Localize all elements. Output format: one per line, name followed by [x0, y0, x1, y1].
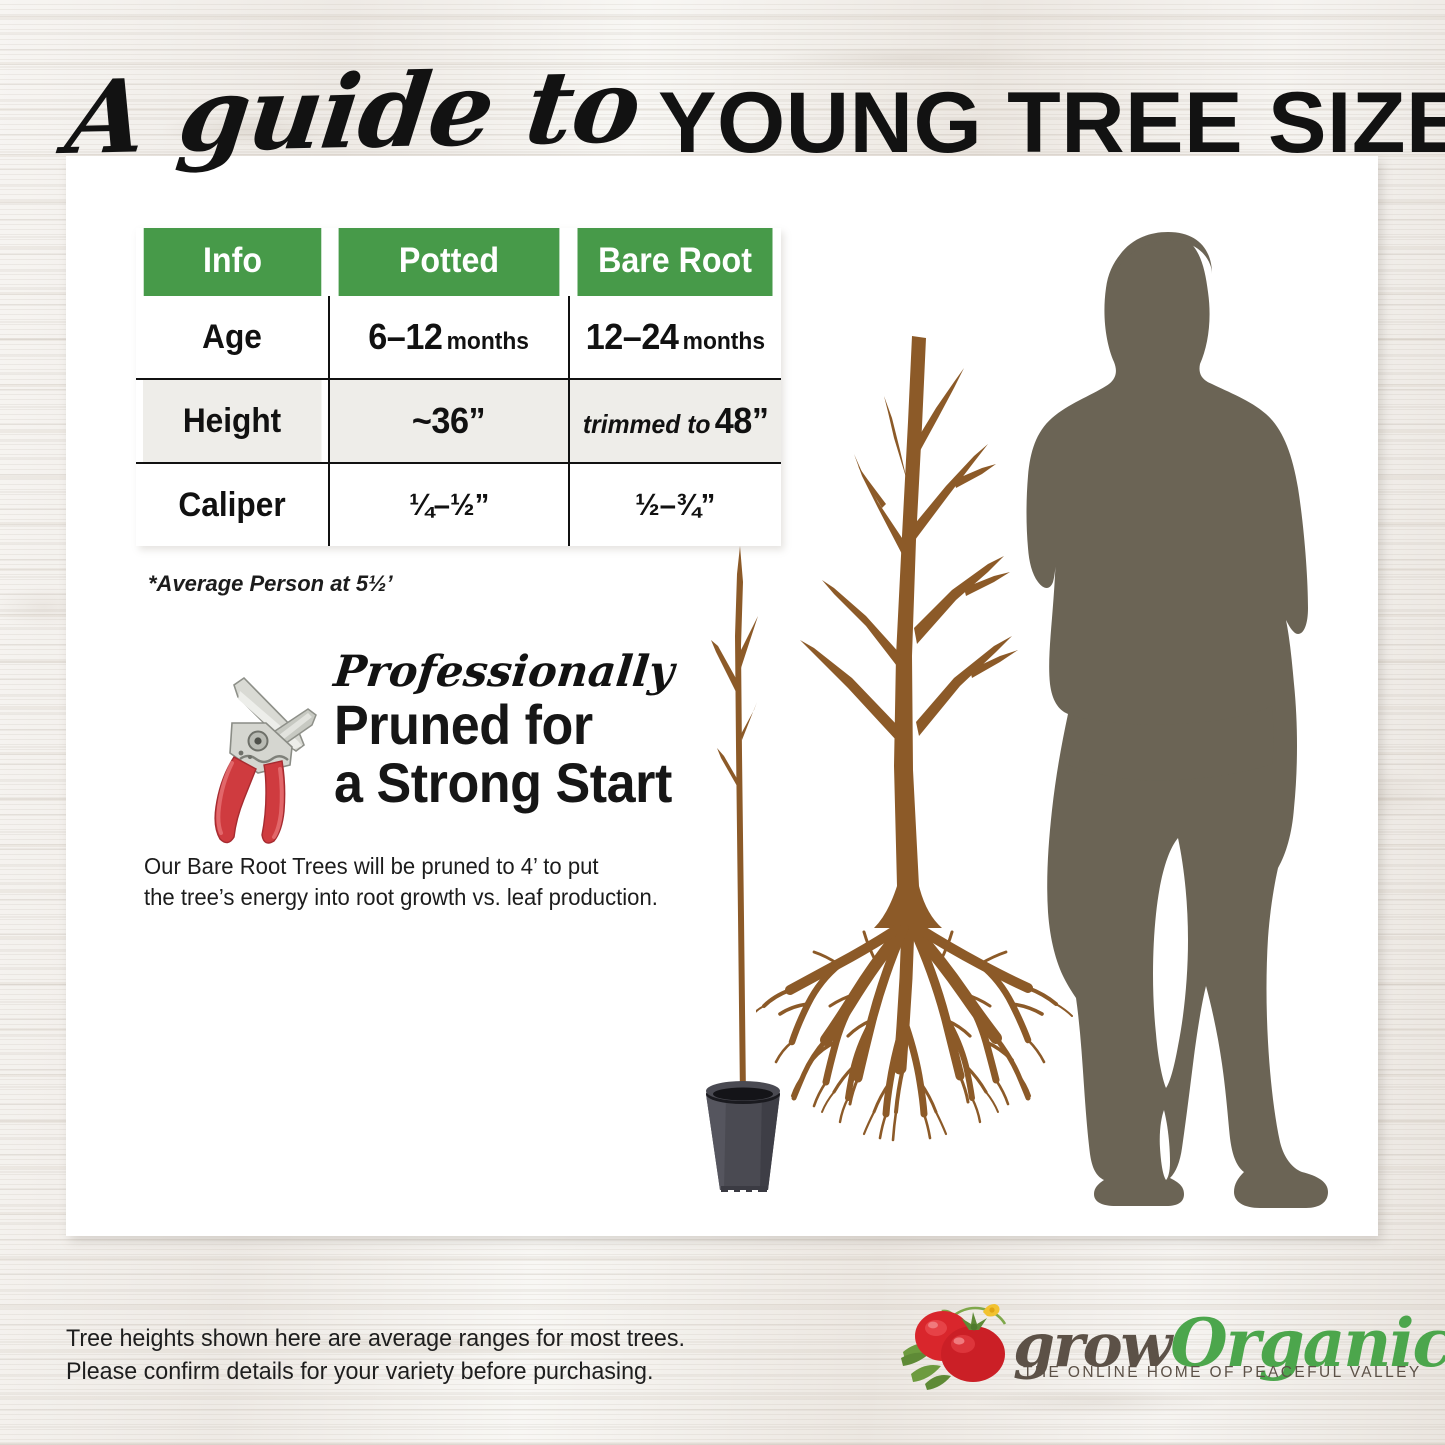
pruning-shears-icon: [204, 661, 324, 851]
cell-age-potted-unit: months: [447, 328, 529, 355]
footer-disclaimer: Tree heights shown here are average rang…: [66, 1322, 685, 1388]
row-label-age: Age: [143, 296, 322, 379]
pruned-headline-line-2: a Strong Start: [334, 754, 725, 812]
page-title-script: A guide to: [62, 58, 645, 166]
brand-tagline: THE ONLINE HOME OF PEACEFUL VALLEY: [1023, 1364, 1383, 1382]
brand-logo[interactable]: growOrganic.COM THE ONLINE HOME OF PEACE…: [895, 1300, 1385, 1405]
cell-age-potted: 6–12 months: [329, 296, 569, 379]
cell-caliper-potted-value: ¼–½”: [409, 487, 489, 523]
person-silhouette-illustration: [1006, 226, 1336, 1211]
table-row-age: Age 6–12 months 12–24 months: [136, 296, 781, 379]
page-title-block: YOUNG TREE SIZES: [658, 80, 1445, 166]
pruned-body-line-1: Our Bare Root Trees will be pruned to 4’…: [144, 851, 662, 882]
cell-height-bareroot-prefix: trimmed to: [583, 409, 711, 439]
cell-height-potted-value: ~36”: [412, 400, 485, 441]
pruned-body-line-2: the tree’s energy into root growth vs. l…: [144, 882, 662, 913]
cell-age-bareroot-value: 12–24: [586, 316, 679, 357]
table-footnote: *Average Person at 5½’: [148, 571, 393, 597]
cell-caliper-potted: ¼–½”: [329, 463, 569, 546]
row-label-height: Height: [143, 379, 322, 463]
cell-height-potted: ~36”: [329, 379, 569, 463]
content-card: Info Potted Bare Root Age 6–12 months 12…: [66, 156, 1378, 1236]
table-header-row: Info Potted Bare Root: [136, 228, 781, 296]
page-title: A guide to YOUNG TREE SIZES: [62, 56, 1392, 166]
cell-age-potted-value: 6–12: [369, 316, 443, 357]
cell-age-bareroot-unit: months: [683, 328, 765, 355]
table-header-potted: Potted: [339, 228, 560, 296]
cell-age-bareroot: 12–24 months: [569, 296, 781, 379]
pruned-body-text: Our Bare Root Trees will be pruned to 4’…: [144, 851, 662, 912]
row-label-caliper: Caliper: [143, 463, 322, 546]
table-row-height: Height ~36” trimmed to 48”: [136, 379, 781, 463]
footer-disclaimer-line-2: Please confirm details for your variety …: [66, 1355, 685, 1388]
table-header-info: Info: [144, 228, 322, 296]
pruned-headline-line-1: Pruned for: [334, 696, 725, 754]
footer-disclaimer-line-1: Tree heights shown here are average rang…: [66, 1322, 685, 1355]
table-header-bareroot: Bare Root: [577, 228, 772, 296]
cell-height-bareroot: trimmed to 48”: [569, 379, 781, 463]
brand-wordmark: growOrganic.COM: [1013, 1304, 1385, 1400]
tomato-illustration-icon: [895, 1300, 1020, 1395]
